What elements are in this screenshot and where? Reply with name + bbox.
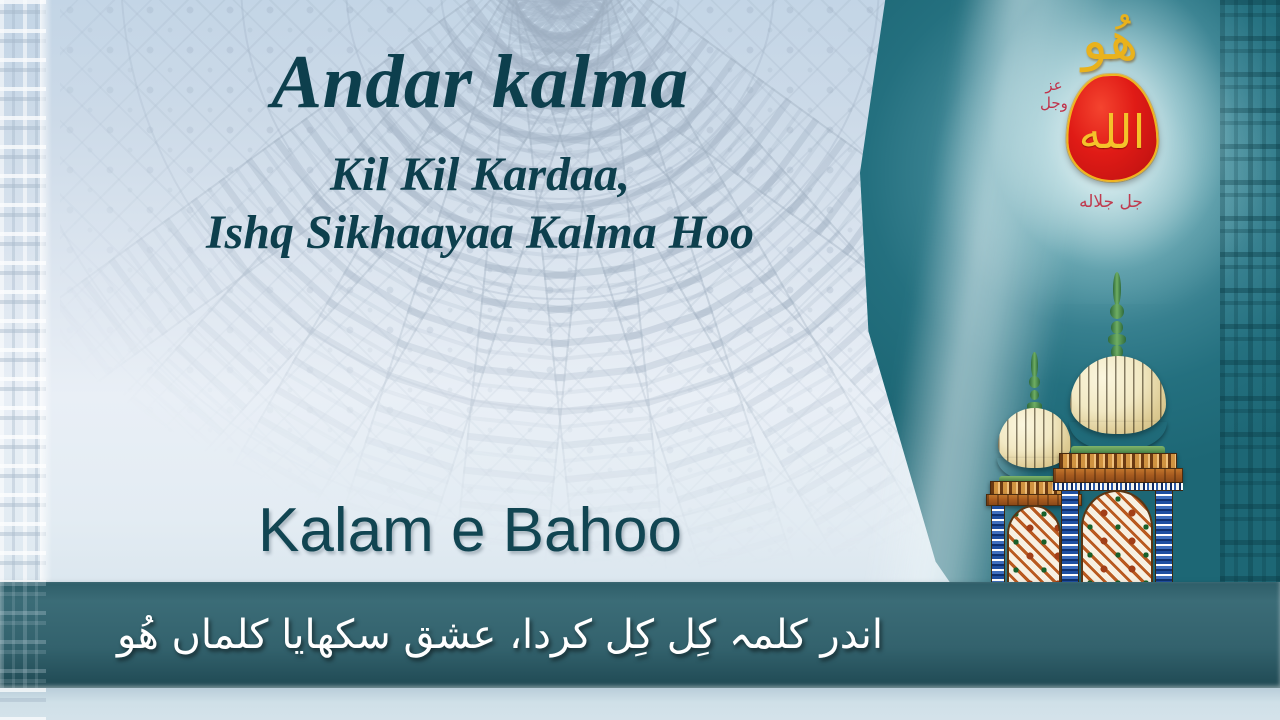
video-title-card: Andar kalma Kil Kil Kardaa, Ishq Sikhaay… xyxy=(0,0,1280,720)
urdu-verse-banner: اندر کلمہ کِل کِل کردا، عشق سکھایا کلماں… xyxy=(0,582,1280,688)
urdu-verse-text: اندر کلمہ کِل کِل کردا، عشق سکھایا کلماں… xyxy=(60,582,940,688)
banner-greek-key-icon xyxy=(0,582,46,688)
logo-allah-text: الله xyxy=(1066,80,1158,184)
logo-jalajalaluhu-text: جل جلاله xyxy=(1044,192,1178,212)
bottom-strip-key-icon xyxy=(0,688,46,720)
allah-calligraphy-icon: هُو عز وجل الله جل جلاله xyxy=(1030,14,1190,264)
bottom-strip xyxy=(0,688,1280,720)
logo-hoo-text: هُو xyxy=(1030,14,1190,68)
